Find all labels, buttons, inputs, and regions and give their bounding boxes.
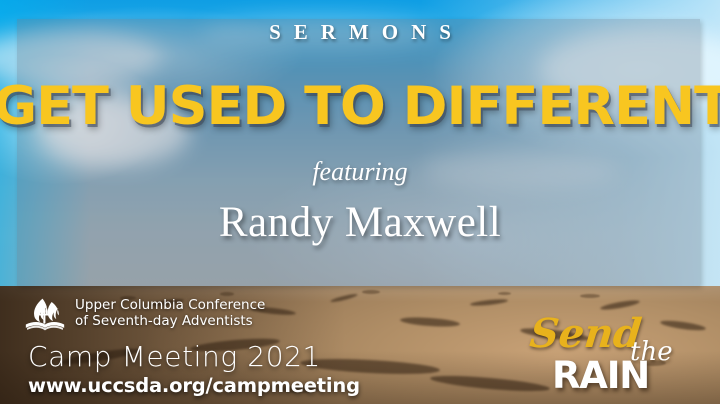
series-kicker: SERMONS bbox=[0, 20, 720, 45]
logo-word-rain: RAIN bbox=[552, 356, 649, 395]
sermon-title-slide: SERMONS GET USED TO DIFFERENT featuring … bbox=[0, 0, 720, 404]
event-url: www.uccsda.org/campmeeting bbox=[28, 374, 364, 397]
brand-logo-row: Upper Columbia Conference of Seventh-day… bbox=[24, 296, 364, 337]
sermon-title: GET USED TO DIFFERENT bbox=[0, 76, 720, 137]
event-name: Camp Meeting 2021 bbox=[28, 341, 364, 373]
featuring-label: featuring bbox=[0, 157, 720, 187]
organization-name: Upper Columbia Conference of Seventh-day… bbox=[75, 296, 265, 329]
sda-flame-book-logo-icon bbox=[24, 297, 66, 337]
logo-word-send: Send bbox=[528, 312, 644, 356]
conference-brand-block: Upper Columbia Conference of Seventh-day… bbox=[24, 296, 364, 397]
send-the-rain-logo: Send the RAIN bbox=[526, 312, 706, 396]
speaker-name: Randy Maxwell bbox=[0, 198, 720, 247]
